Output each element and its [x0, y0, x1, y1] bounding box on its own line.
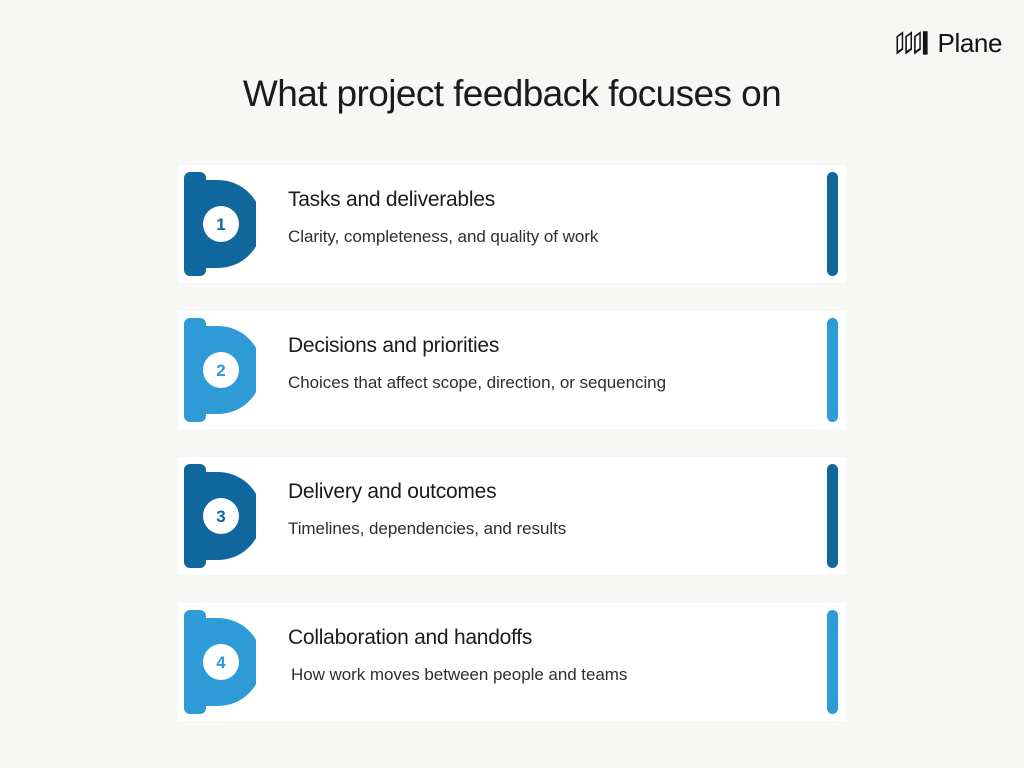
feedback-card-3[interactable]: 3 Delivery and outcomes Timelines, depen…	[178, 457, 846, 575]
page-title: What project feedback focuses on	[0, 72, 1024, 116]
step-number-badge-3: 3	[203, 498, 239, 534]
step-number-badge-1: 1	[203, 206, 239, 242]
card-accent-bar-4	[827, 610, 838, 714]
card-title-3: Delivery and outcomes	[288, 479, 786, 505]
feedback-card-list: 1 Tasks and deliverables Clarity, comple…	[178, 165, 846, 721]
feedback-card-1[interactable]: 1 Tasks and deliverables Clarity, comple…	[178, 165, 846, 283]
step-number-badge-2: 2	[203, 352, 239, 388]
card-description-3: Timelines, dependencies, and results	[288, 516, 718, 542]
card-title-4: Collaboration and handoffs	[288, 625, 786, 651]
step-number-1: 1	[216, 216, 225, 233]
card-description-4: How work moves between people and teams	[288, 662, 718, 688]
card-accent-bar-1	[827, 172, 838, 276]
brand-name: Plane	[938, 30, 1003, 56]
brand-logo: Plane	[895, 30, 1003, 56]
card-title-2: Decisions and priorities	[288, 333, 786, 359]
step-number-4: 4	[216, 654, 225, 671]
card-text-block-2: Decisions and priorities Choices that af…	[288, 311, 846, 397]
step-number-badge-4: 4	[203, 644, 239, 680]
card-text-block-1: Tasks and deliverables Clarity, complete…	[288, 165, 846, 251]
card-title-1: Tasks and deliverables	[288, 187, 786, 213]
p-marker-icon-1: 1	[184, 172, 256, 276]
card-accent-bar-3	[827, 464, 838, 568]
step-number-3: 3	[216, 508, 225, 525]
plane-logo-icon	[895, 30, 929, 56]
feedback-card-2[interactable]: 2 Decisions and priorities Choices that …	[178, 311, 846, 429]
p-marker-icon-4: 4	[184, 610, 256, 714]
feedback-card-4[interactable]: 4 Collaboration and handoffs How work mo…	[178, 603, 846, 721]
p-marker-icon-2: 2	[184, 318, 256, 422]
step-number-2: 2	[216, 362, 225, 379]
card-description-2: Choices that affect scope, direction, or…	[288, 370, 718, 396]
card-text-block-4: Collaboration and handoffs How work move…	[288, 603, 846, 689]
card-accent-bar-2	[827, 318, 838, 422]
p-marker-icon-3: 3	[184, 464, 256, 568]
card-text-block-3: Delivery and outcomes Timelines, depende…	[288, 457, 846, 543]
card-description-1: Clarity, completeness, and quality of wo…	[288, 224, 718, 250]
